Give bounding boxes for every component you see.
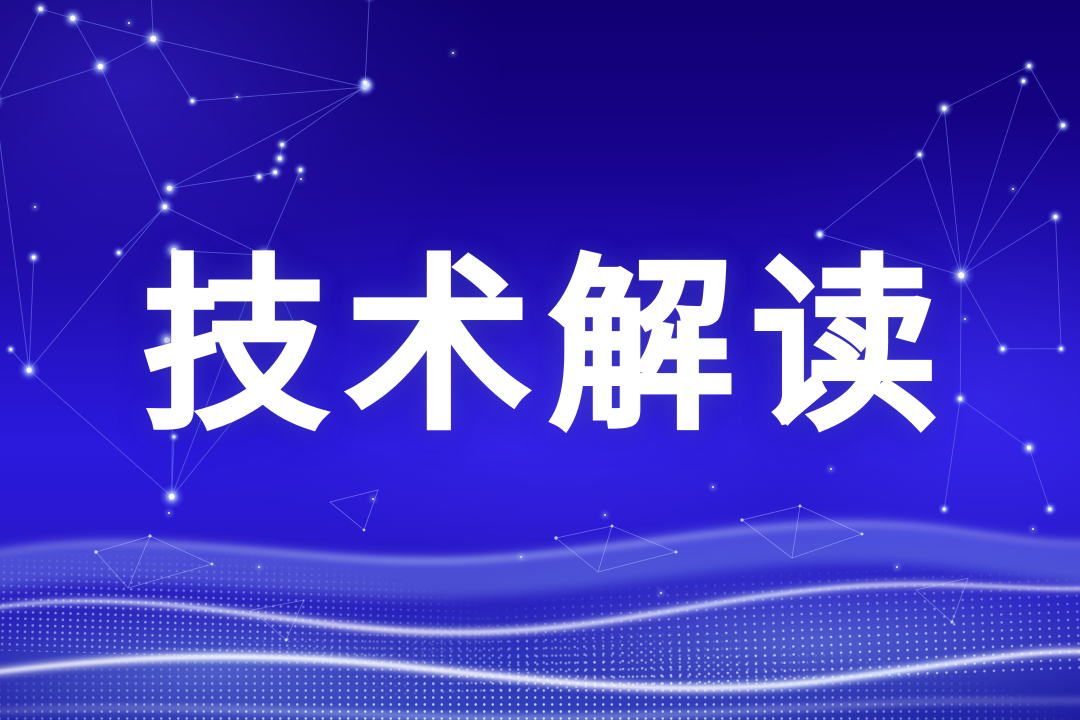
wave-crest-ribbons [0,460,1080,720]
wave-crest-lower [0,700,1080,718]
title-block: 技术解读 [0,243,1080,453]
page-title: 技术解读 [125,255,954,441]
star-speck [236,96,238,98]
star-speck [34,206,36,208]
star-speck [1012,188,1014,190]
star-speck [300,178,302,180]
poster-canvas: 技术解读 [0,0,1080,720]
star-speck [452,52,454,54]
particle-wave-field [0,460,1080,720]
star-speck [128,22,130,24]
